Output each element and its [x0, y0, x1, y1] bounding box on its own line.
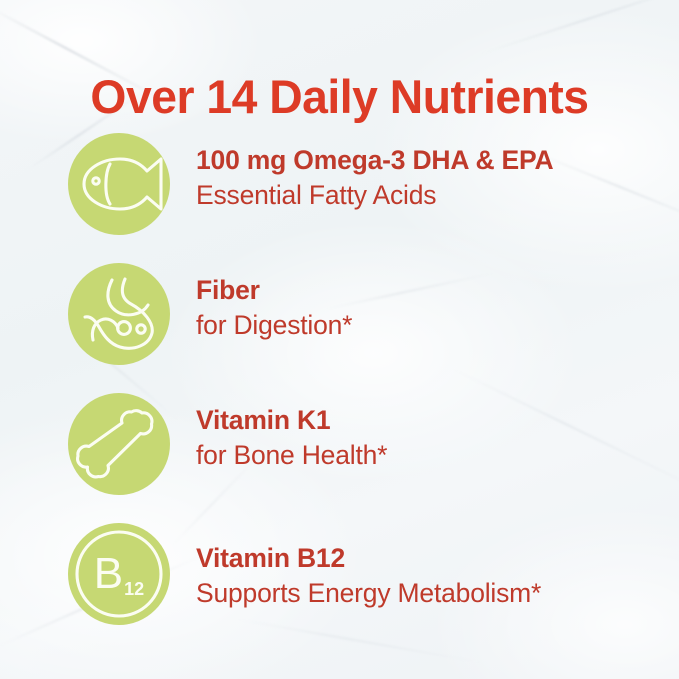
b12-glyph-subscript: 12 — [124, 579, 144, 600]
bone-icon — [68, 393, 170, 495]
b12-icon: B12 — [68, 523, 170, 625]
list-item-subtitle: Essential Fatty Acids — [196, 179, 553, 213]
list-item-subtitle: for Digestion* — [196, 309, 352, 343]
list-item: Fiber for Digestion* — [0, 263, 679, 393]
list-item: Vitamin K1 for Bone Health* — [0, 393, 679, 523]
list-item-title: Vitamin K1 — [196, 404, 387, 438]
list-item: B12 Vitamin B12 Supports Energy Metaboli… — [0, 523, 679, 653]
list-item-title: Vitamin B12 — [196, 542, 541, 576]
list-item-subtitle: for Bone Health* — [196, 439, 387, 473]
list-item-subtitle: Supports Energy Metabolism* — [196, 577, 541, 611]
list-item-title: Fiber — [196, 274, 352, 308]
nutrient-infographic: Over 14 Daily Nutrients 100 mg Omega-3 D… — [0, 0, 679, 679]
page-title: Over 14 Daily Nutrients — [5, 69, 674, 124]
stomach-icon — [68, 263, 170, 365]
list-item-text: Vitamin K1 for Bone Health* — [196, 404, 387, 473]
list-item-text: Fiber for Digestion* — [196, 274, 352, 343]
list-item-text: Vitamin B12 Supports Energy Metabolism* — [196, 542, 541, 611]
list-item: 100 mg Omega-3 DHA & EPA Essential Fatty… — [0, 133, 679, 263]
fish-icon — [68, 133, 170, 235]
list-item-title: 100 mg Omega-3 DHA & EPA — [196, 144, 553, 178]
b12-glyph-main: B — [94, 549, 123, 599]
marble-vein — [476, 0, 679, 56]
nutrient-list: 100 mg Omega-3 DHA & EPA Essential Fatty… — [0, 133, 679, 653]
list-item-text: 100 mg Omega-3 DHA & EPA Essential Fatty… — [196, 144, 553, 213]
b12-glyph: B12 — [68, 523, 170, 625]
